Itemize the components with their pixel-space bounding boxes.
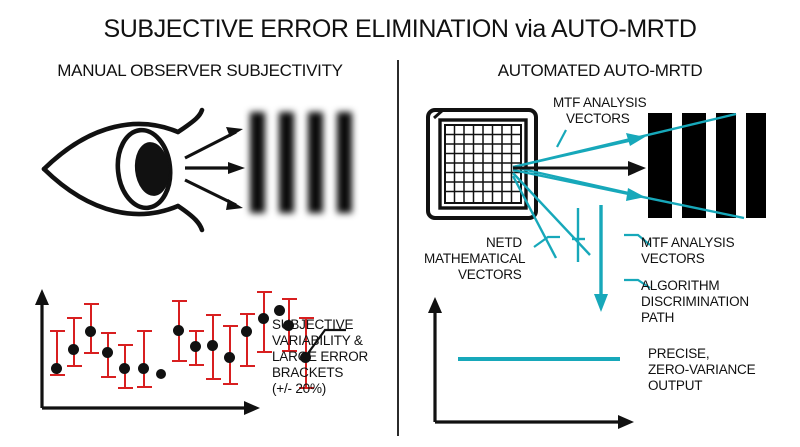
zero-variance-output-line [458, 357, 620, 361]
netd-label-line-1: NETD [486, 236, 522, 250]
left-annotation-line-4: BRACKETS [272, 366, 343, 380]
algorithm-label-line-2: DISCRIMINATION [641, 295, 749, 309]
label-leader-lines [534, 130, 650, 288]
algorithm-discrimination-path [594, 205, 608, 312]
sensor-grid-lines [445, 125, 521, 203]
output-label-line-3: OUTPUT [648, 379, 702, 393]
netd-mathematical-vectors [572, 208, 585, 262]
output-chart-arrowheads [428, 297, 634, 429]
mtf-top-label-line-1: MTF ANALYSIS [553, 96, 646, 110]
eye-icon [44, 110, 202, 230]
output-label-line-2: ZERO-VARIANCE [648, 363, 755, 377]
algorithm-label-line-3: PATH [641, 311, 674, 325]
netd-label-line-2: MATHEMATICAL [424, 252, 525, 266]
panel-divider [397, 60, 399, 436]
mtf-right-label-line-1: MTF ANALYSIS [641, 236, 734, 250]
diagram-canvas: SUBJECTIVE ERROR ELIMINATION via AUTO-MR… [0, 0, 800, 447]
sight-ray-arrowheads [226, 127, 245, 210]
right-panel-heading: AUTOMATED AUTO-MRTD [410, 62, 790, 80]
left-annotation-line-2: VARIABILITY & [272, 334, 363, 348]
left-annotation-line-5: (+/- 20%) [272, 382, 326, 396]
left-annotation-line-1: SUBJECTIVE [272, 318, 353, 332]
page-title: SUBJECTIVE ERROR ELIMINATION via AUTO-MR… [0, 16, 800, 43]
mtf-vector-arrowheads [626, 133, 645, 201]
output-label-line-1: PRECISE, [648, 347, 709, 361]
output-chart-axes [435, 305, 625, 422]
boresight-arrowhead [628, 161, 646, 176]
netd-label-line-3: VECTORS [458, 268, 522, 282]
left-panel-heading: MANUAL OBSERVER SUBJECTIVITY [10, 62, 390, 80]
pupil-icon [132, 140, 171, 197]
algorithm-label-line-1: ALGORITHM [641, 279, 719, 293]
mtf-top-label-line-2: VECTORS [566, 112, 630, 126]
left-annotation-line-3: LARGE ERROR [272, 350, 368, 364]
sight-ray-arrows [185, 132, 236, 205]
mtf-right-label-line-2: VECTORS [641, 252, 705, 266]
